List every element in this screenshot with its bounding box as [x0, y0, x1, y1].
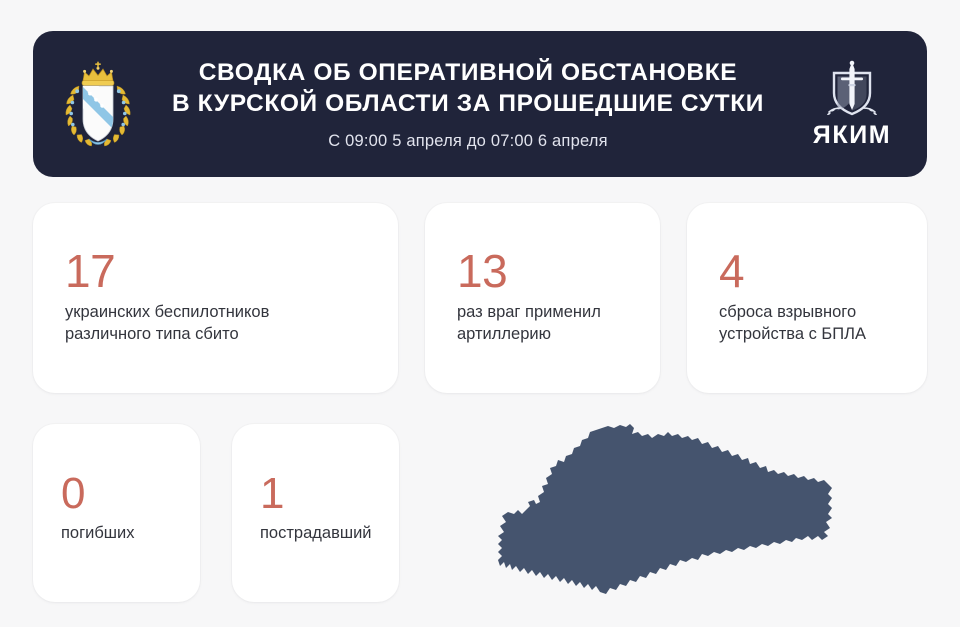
kursk-oblast-map	[492, 412, 854, 612]
stat-value: 1	[260, 474, 387, 516]
stat-value: 4	[719, 250, 909, 294]
stat-card-content: 4 сброса взрывного устройства с БПЛА	[719, 250, 909, 346]
report-header-banner: СВОДКА ОБ ОПЕРАТИВНОЙ ОБСТАНОВКЕ В КУРСК…	[33, 31, 927, 177]
stat-label: погибших	[61, 523, 188, 545]
stat-label: сброса взрывного устройства с БПЛА	[719, 302, 909, 346]
stat-value: 13	[457, 250, 642, 294]
page-title: СВОДКА ОБ ОПЕРАТИВНОЙ ОБСТАНОВКЕ В КУРСК…	[163, 57, 773, 120]
stat-card-explosive-drops: 4 сброса взрывного устройства с БПЛА	[687, 203, 927, 393]
kursk-oblast-map-silhouette-icon	[492, 412, 854, 612]
stat-value: 17	[65, 250, 380, 294]
stat-label: раз враг применил артиллерию	[457, 302, 642, 346]
stat-card-artillery: 13 раз враг применил артиллерию	[425, 203, 660, 393]
shield-sword-icon	[822, 60, 882, 122]
stat-card-content: 17 украинских беспилотников различного т…	[65, 250, 380, 346]
stat-label: украинских беспилотников различного типа…	[65, 302, 380, 346]
stat-card-content: 1 пострадавший	[260, 474, 387, 546]
stat-card-content: 13 раз враг применил артиллерию	[457, 250, 642, 346]
stat-value: 0	[61, 474, 188, 516]
stat-card-content: 0 погибших	[61, 474, 188, 546]
report-period-subtitle: С 09:00 5 апреля до 07:00 6 апреля	[163, 132, 773, 151]
stat-label: пострадавший	[260, 523, 387, 545]
kursk-oblast-coat-of-arms-icon	[59, 59, 137, 149]
stat-card-injured: 1 пострадавший	[232, 424, 399, 602]
yakim-logo-text: ЯКИМ	[813, 123, 891, 148]
yakim-logo: ЯКИМ	[777, 60, 927, 148]
header-text-block: СВОДКА ОБ ОПЕРАТИВНОЙ ОБСТАНОВКЕ В КУРСК…	[163, 57, 777, 152]
stat-card-drones: 17 украинских беспилотников различного т…	[33, 203, 398, 393]
coat-of-arms-container	[33, 59, 163, 149]
stat-card-killed: 0 погибших	[33, 424, 200, 602]
